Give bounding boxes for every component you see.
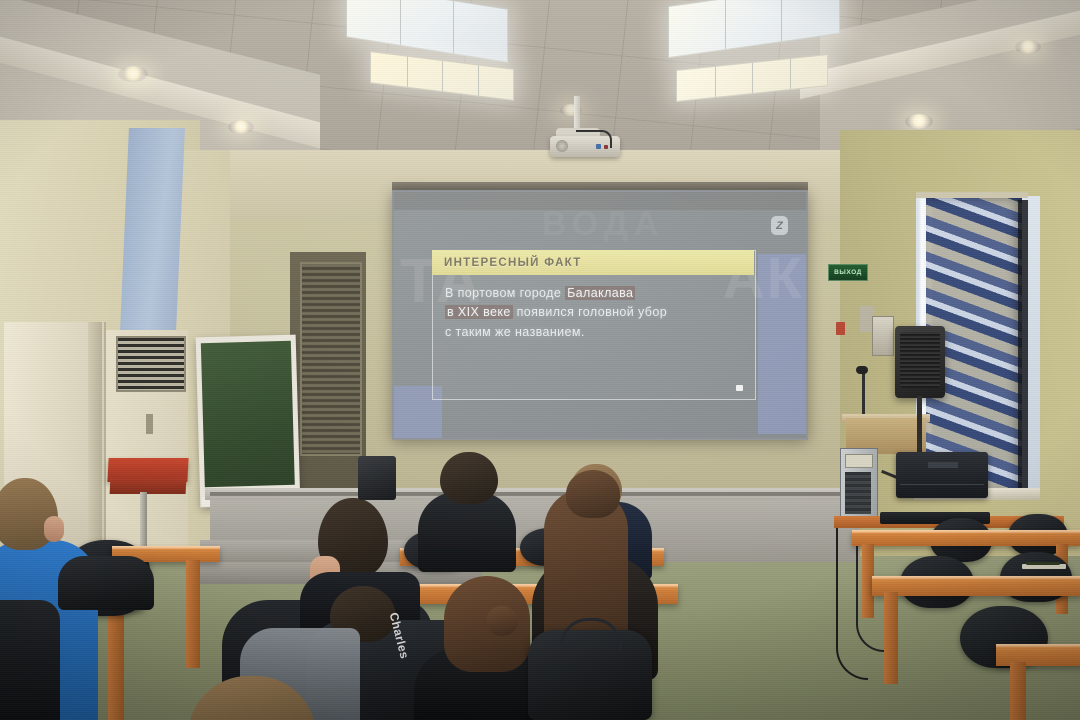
desk-leg (108, 608, 124, 720)
microphone-stand (862, 372, 865, 420)
slide-header-band: ИНТЕРЕСНЫЙ ФАКТ (432, 250, 754, 275)
slide-content-card: ИНТЕРЕСНЫЙ ФАКТ В портовом городе Балакл… (432, 250, 756, 400)
pc-drive-bay (845, 454, 873, 468)
student-desk (996, 644, 1080, 666)
person-head (566, 470, 620, 518)
projector-port-red (604, 145, 608, 149)
exit-sign: ВЫХОД (828, 264, 868, 281)
slide-brand-logo-glyph: Z (776, 220, 783, 232)
air-unit-label (146, 414, 153, 434)
fire-alarm-icon (836, 322, 845, 335)
person-hair-bun (486, 606, 518, 636)
presentation-slide: ТА АК ВОДА Z ИНТЕРЕСНЫЙ ФАКТ В портовом … (394, 192, 806, 438)
projector-lens (556, 140, 568, 152)
computer-monitor (896, 452, 988, 498)
person-lap (0, 600, 60, 720)
person-torso (418, 492, 516, 572)
slide-header-label: ИНТЕРЕСНЫЙ ФАКТ (432, 257, 582, 269)
monitor-base-line (900, 484, 984, 485)
slide-body-text: В портовом городе Балаклава в XIX веке п… (445, 284, 745, 342)
slide-brand-logo-icon: Z (771, 216, 788, 235)
ceiling-downlight-4 (1015, 40, 1041, 54)
desk-leg (186, 560, 200, 668)
ceiling-downlight-2 (228, 120, 254, 134)
chalkboard (196, 335, 301, 508)
stage-edge-strip (210, 492, 860, 496)
person-head (440, 452, 498, 504)
classroom-photo-scene: ТА АК ВОДА Z ИНТЕРЕСНЫЙ ФАКТ В портовом … (0, 0, 1080, 720)
air-vent-grille-icon (116, 336, 186, 392)
floor-speaker (358, 456, 396, 500)
slide-line1-highlight: Балаклава (565, 286, 635, 300)
exit-sign-label: ВЫХОД (834, 269, 862, 276)
lectern-front (110, 478, 187, 494)
desk-leg (884, 592, 898, 684)
pa-speaker-grille (900, 332, 940, 388)
curtain-rail (916, 192, 1028, 198)
ceiling-downlight-3 (905, 114, 933, 129)
pen (1026, 562, 1060, 565)
wall-vent-grille-icon (300, 262, 362, 456)
slide-highlight-glint (736, 385, 743, 391)
slide-line2-rest: появился головной убор (513, 305, 667, 319)
microphone-head (856, 366, 868, 374)
projector-port-blue (596, 144, 601, 149)
slide-ghost-letters-top: ВОДА (542, 210, 664, 239)
slide-line3: с таким же названием. (445, 325, 585, 339)
bag (58, 556, 154, 610)
monitor-brand-strip (928, 462, 958, 468)
desk-leg (1010, 662, 1026, 720)
window-curtain-edge (1018, 200, 1028, 492)
pc-ports (845, 472, 871, 514)
person-ear (44, 516, 64, 542)
electrical-box (872, 316, 894, 356)
student-desk (852, 530, 1080, 546)
chalkboard-surface (201, 341, 295, 487)
slide-line2-highlight: в XIX веке (445, 305, 513, 319)
slide-line1-prefix: В портовом городе (445, 286, 565, 300)
ceiling-downlight-1 (118, 66, 148, 82)
student-desk (872, 576, 1080, 596)
